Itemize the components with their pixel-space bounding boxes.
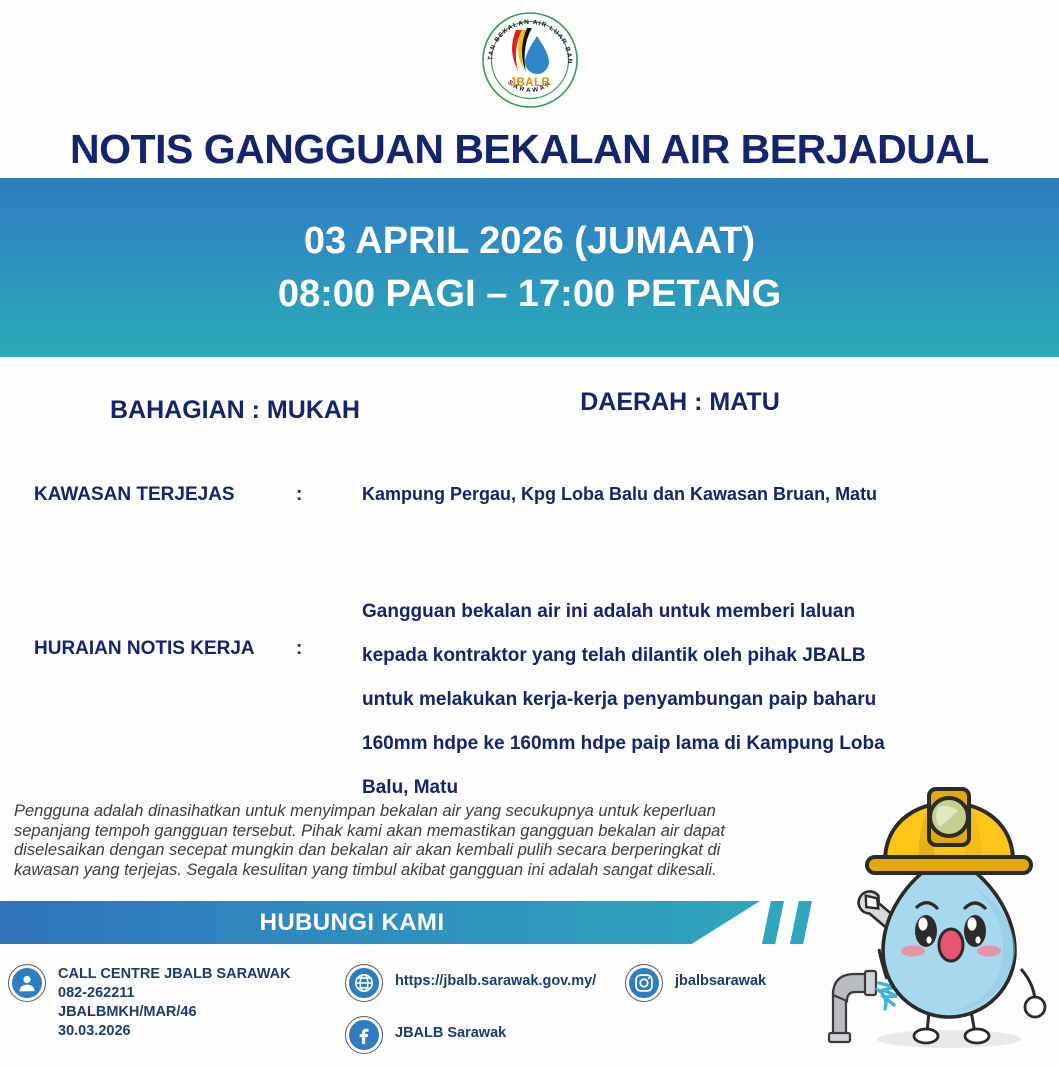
instagram-label[interactable]: jbalbsarawak [675, 964, 766, 991]
leaking-pipe-icon [829, 971, 897, 1042]
work-description-label: HURAIAN NOTIS KERJA [34, 590, 296, 660]
globe-icon [345, 964, 383, 1002]
hard-hat-icon [867, 789, 1031, 873]
contact-footer: CALL CENTRE JBALB SARAWAK 082-262211 JBA… [0, 958, 830, 1067]
contact-call-centre: CALL CENTRE JBALB SARAWAK 082-262211 JBA… [8, 964, 291, 1041]
advisory-text: Pengguna adalah dinasihatkan untuk menyi… [14, 802, 784, 880]
contact-banner: HUBUNGI KAMI [0, 901, 760, 944]
affected-area-colon: : [296, 484, 362, 506]
notice-time: 08:00 PAGI – 17:00 PETANG [278, 271, 781, 317]
instagram-icon [625, 964, 663, 1002]
contact-banner-label: HUBUNGI KAMI [260, 909, 445, 937]
daerah-label: DAERAH : MATU [470, 388, 890, 417]
svg-text:JBALB: JBALB [509, 77, 550, 89]
affected-area-value: Kampung Pergau, Kpg Loba Balu dan Kawasa… [362, 484, 877, 505]
notice-poster: JABATAN BEKALAN AIR LUAR BANDAR SARAWAK … [0, 0, 1059, 1067]
bahagian-label: BAHAGIAN : MUKAH [0, 396, 470, 425]
facebook-icon [345, 1016, 383, 1054]
affected-area-row: KAWASAN TERJEJAS : Kampung Pergau, Kpg L… [34, 484, 877, 506]
contact-facebook[interactable]: JBALB Sarawak [345, 1016, 506, 1054]
call-centre-line4: 30.03.2026 [58, 1023, 131, 1039]
work-description-row: HURAIAN NOTIS KERJA : Gangguan bekalan a… [34, 590, 1014, 810]
work-description-lines: Gangguan bekalan air ini adalah untuk me… [362, 590, 885, 810]
work-description-colon: : [296, 590, 362, 660]
call-centre-line2: 082-262211 [58, 985, 135, 1001]
work-description-line: kepada kontraktor yang telah dilantik ol… [362, 634, 885, 678]
call-centre-text: CALL CENTRE JBALB SARAWAK 082-262211 JBA… [58, 964, 291, 1041]
call-centre-line3: JBALBMKH/MAR/46 [58, 1004, 197, 1020]
notice-date: 03 APRIL 2026 (JUMAAT) [304, 218, 755, 264]
date-time-banner: 03 APRIL 2026 (JUMAAT) 08:00 PAGI – 17:0… [0, 178, 1059, 357]
affected-area-label: KAWASAN TERJEJAS [34, 484, 296, 506]
banner-slash-decoration [790, 901, 812, 944]
person-icon [8, 964, 46, 1002]
work-description-line: untuk melakukan kerja-kerja penyambungan… [362, 678, 885, 722]
region-row: BAHAGIAN : MUKAH DAERAH : MATU [0, 396, 1059, 425]
facebook-label[interactable]: JBALB Sarawak [395, 1016, 506, 1043]
work-description-line: Gangguan bekalan air ini adalah untuk me… [362, 590, 885, 634]
jbalb-logo-icon: JABATAN BEKALAN AIR LUAR BANDAR SARAWAK … [480, 10, 580, 110]
website-label[interactable]: https://jbalb.sarawak.gov.my/ [395, 964, 596, 991]
banner-slash-decoration [762, 901, 784, 944]
contact-banner-container: HUBUNGI KAMI [0, 901, 830, 944]
contact-website[interactable]: https://jbalb.sarawak.gov.my/ [345, 964, 596, 1002]
contact-instagram[interactable]: jbalbsarawak [625, 964, 766, 1002]
call-centre-line1: CALL CENTRE JBALB SARAWAK [58, 966, 291, 982]
water-droplet-mascot [825, 783, 1057, 1063]
work-description-line: 160mm hdpe ke 160mm hdpe paip lama di Ka… [362, 722, 885, 766]
logo-container: JABATAN BEKALAN AIR LUAR BANDAR SARAWAK … [0, 8, 1059, 112]
page-title: NOTIS GANGGUAN BEKALAN AIR BERJADUAL [0, 126, 1059, 173]
